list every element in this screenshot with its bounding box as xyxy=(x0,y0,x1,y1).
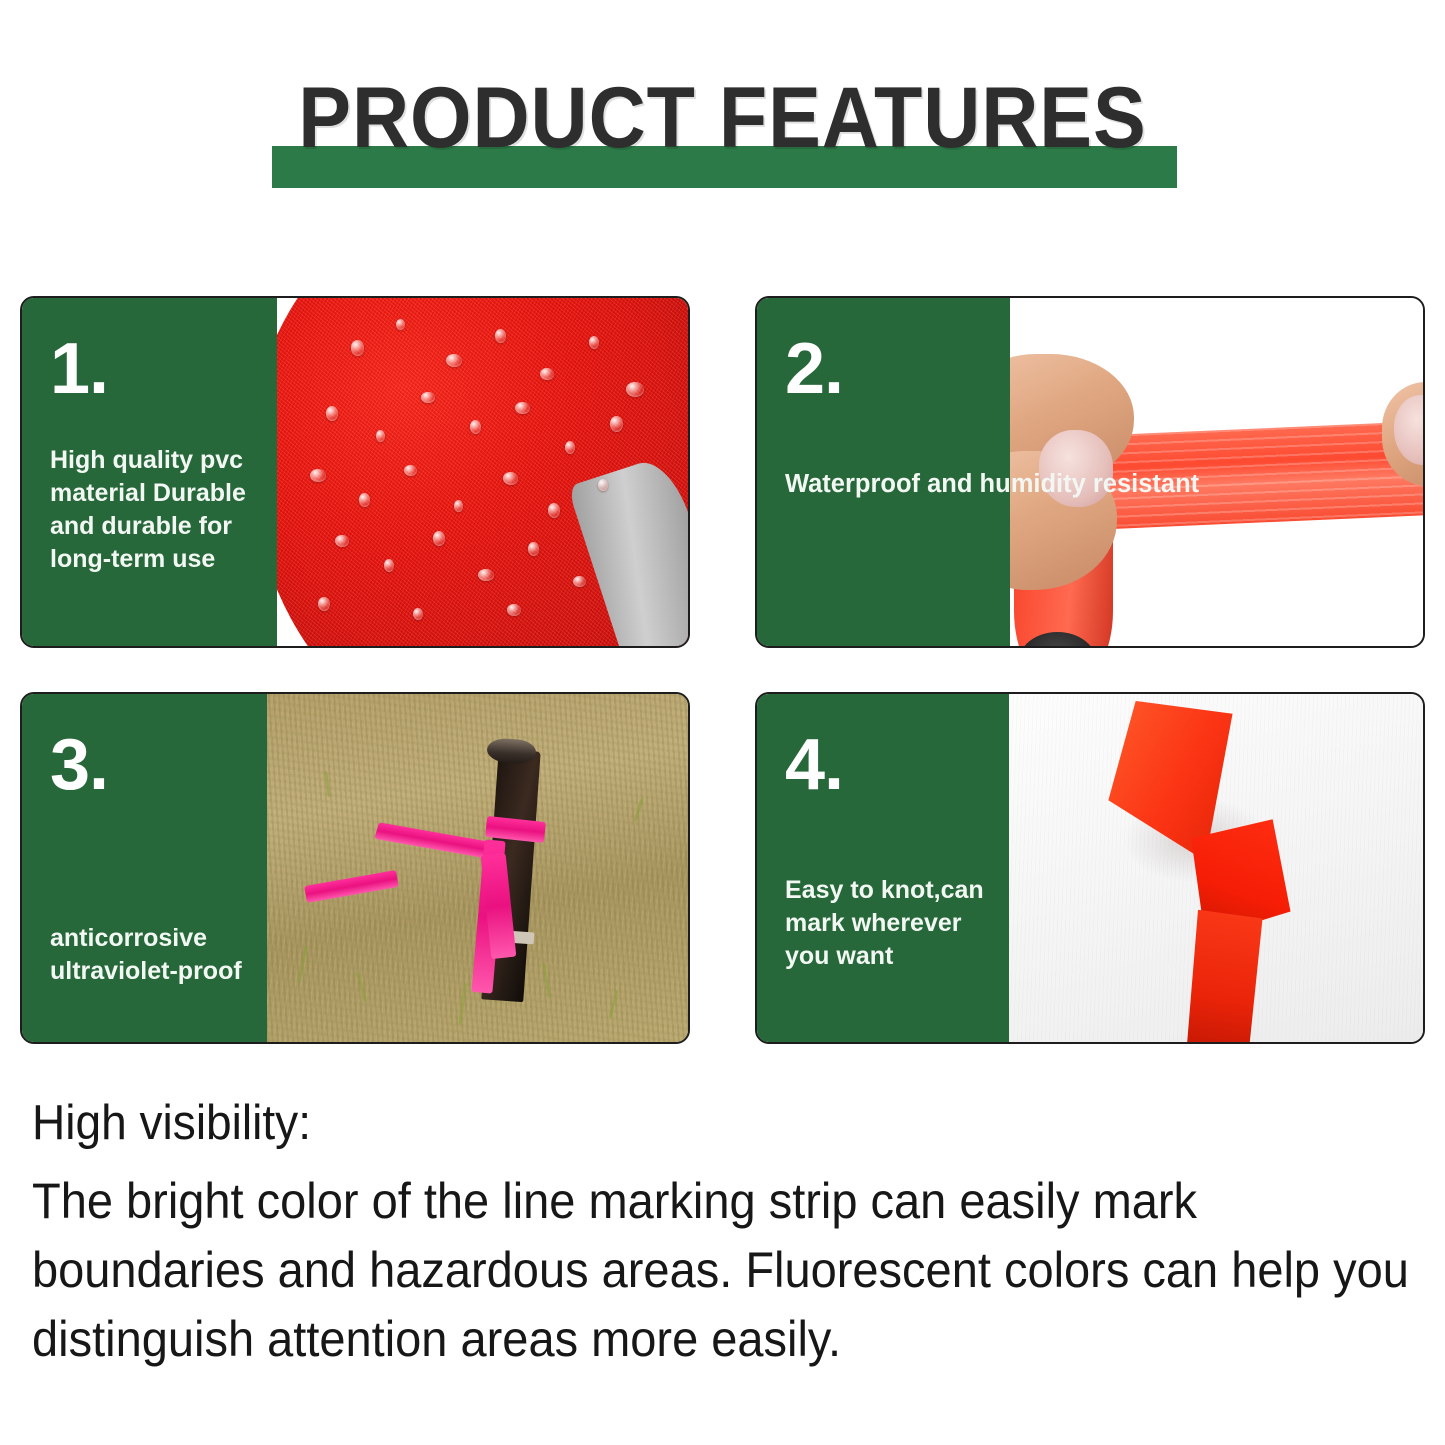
pink-ribbon-tail-left-end xyxy=(304,871,398,904)
bottom-description-block: High visibility: The bright color of the… xyxy=(32,1093,1432,1374)
feature-card-2[interactable]: 2. Waterproof and humidity resistant xyxy=(755,296,1425,648)
grass-blade xyxy=(356,973,367,1003)
high-visibility-paragraph: The bright color of the line marking str… xyxy=(32,1167,1433,1374)
knot-ribbon-lower xyxy=(1187,910,1266,1042)
grass-blade xyxy=(324,770,331,796)
water-droplet xyxy=(495,329,506,343)
water-droplet xyxy=(326,406,338,421)
water-droplet xyxy=(565,441,575,454)
sprinkler-head-cap xyxy=(486,738,536,766)
feature-cards-grid: 1. High quality pvc material Durable and… xyxy=(20,296,1425,1044)
water-droplet xyxy=(384,559,394,572)
water-droplet xyxy=(335,535,349,547)
feature-card-2-text-panel: 2. Waterproof and humidity resistant xyxy=(757,298,1010,646)
feature-card-1-description: High quality pvc material Durable and du… xyxy=(50,444,269,576)
grass-blade xyxy=(297,945,308,983)
water-droplet xyxy=(310,469,326,482)
feature-card-1-number: 1. xyxy=(50,332,269,406)
water-droplet xyxy=(421,392,435,403)
grass-blade xyxy=(609,990,619,1018)
feature-card-3-photo xyxy=(267,694,688,1042)
feature-card-3[interactable]: 3. anticorrosive ultraviolet-proof xyxy=(20,692,690,1044)
water-droplet xyxy=(351,340,364,356)
water-droplet xyxy=(413,608,423,620)
feature-card-2-description: Waterproof and humidity resistant xyxy=(785,468,1002,501)
water-droplet xyxy=(503,472,518,485)
water-droplet xyxy=(446,354,462,367)
feature-card-1-text-panel: 1. High quality pvc material Durable and… xyxy=(22,298,277,646)
water-droplet xyxy=(376,430,385,442)
water-droplet xyxy=(470,420,481,434)
water-droplet xyxy=(610,416,623,432)
water-droplet xyxy=(598,479,608,491)
feature-card-1[interactable]: 1. High quality pvc material Durable and… xyxy=(20,296,690,648)
feature-card-3-number: 3. xyxy=(50,728,259,802)
feature-card-2-number: 2. xyxy=(785,332,1002,406)
grass-blade xyxy=(542,962,551,998)
feature-card-4-description: Easy to knot,can mark wherever you want xyxy=(785,874,1001,973)
water-droplet xyxy=(528,542,539,556)
feature-card-3-description: anticorrosive ultraviolet-proof xyxy=(50,922,259,988)
water-droplet xyxy=(454,500,463,512)
water-droplet xyxy=(396,319,405,330)
feature-card-3-text-panel: 3. anticorrosive ultraviolet-proof xyxy=(22,694,267,1042)
grass-blade xyxy=(458,983,467,1025)
water-droplet xyxy=(540,368,554,380)
water-droplet xyxy=(433,531,445,546)
feature-card-1-photo xyxy=(277,298,688,646)
feature-card-4[interactable]: 4. Easy to knot,can mark wherever you wa… xyxy=(755,692,1425,1044)
grass-blade xyxy=(634,799,644,823)
water-droplet xyxy=(626,382,644,397)
feature-card-4-number: 4. xyxy=(785,728,1001,802)
page-header: PRODUCT FEATURES xyxy=(0,0,1445,255)
feature-card-4-text-panel: 4. Easy to knot,can mark wherever you wa… xyxy=(757,694,1009,1042)
high-visibility-heading: High visibility: xyxy=(32,1093,1348,1153)
feature-card-4-photo xyxy=(1009,694,1423,1042)
water-droplet xyxy=(359,493,370,507)
page-title: PRODUCT FEATURES xyxy=(58,72,1387,164)
